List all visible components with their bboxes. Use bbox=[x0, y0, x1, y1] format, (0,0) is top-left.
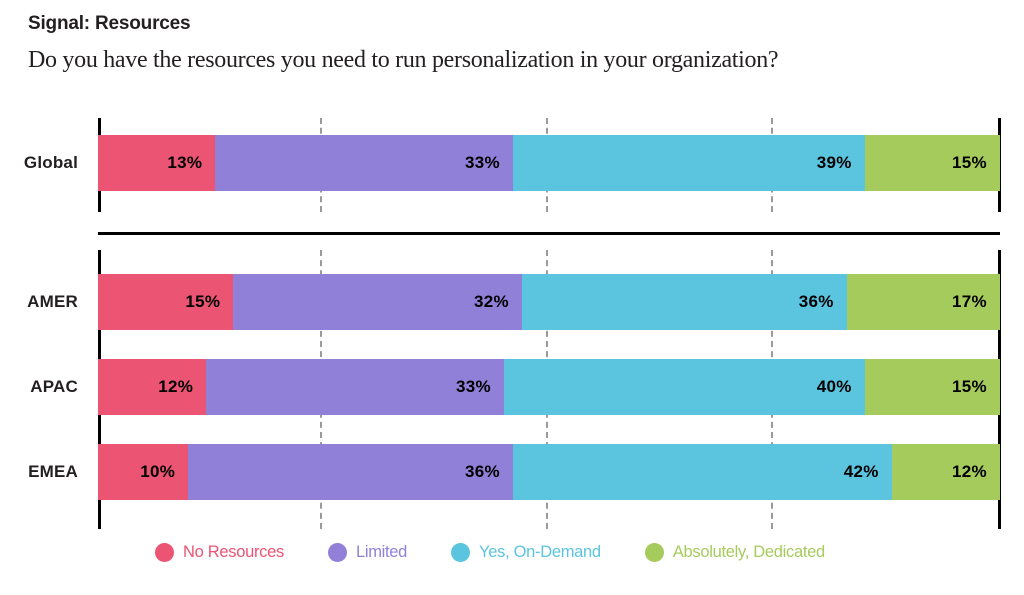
chart-legend: No Resources Limited Yes, On-Demand Abso… bbox=[155, 543, 869, 562]
bar-segment-value: 42% bbox=[844, 462, 892, 482]
bar-segment-no-resources[interactable]: 10% bbox=[98, 444, 188, 500]
legend-item-yes-on-demand[interactable]: Yes, On-Demand bbox=[451, 543, 601, 562]
bar-segment-value: 39% bbox=[817, 153, 865, 173]
stacked-bar-apac: 12% 33% 40% 15% bbox=[98, 359, 1000, 415]
bar-segment-value: 15% bbox=[952, 377, 1000, 397]
stacked-bar-global: 13% 33% 39% 15% bbox=[98, 135, 1000, 191]
bar-segment-value: 32% bbox=[474, 292, 522, 312]
group-separator bbox=[98, 232, 1000, 235]
bar-segment-value: 17% bbox=[952, 292, 1000, 312]
bar-segment-absolutely-dedicated[interactable]: 15% bbox=[865, 135, 1000, 191]
bar-segment-value: 15% bbox=[952, 153, 1000, 173]
legend-dot-icon bbox=[645, 543, 664, 562]
legend-item-label: Absolutely, Dedicated bbox=[673, 543, 825, 562]
row-label-amer: AMER bbox=[0, 274, 88, 330]
bar-segment-absolutely-dedicated[interactable]: 17% bbox=[847, 274, 1000, 330]
row-label-global: Global bbox=[0, 135, 88, 191]
legend-dot-icon bbox=[451, 543, 470, 562]
bar-segment-limited[interactable]: 33% bbox=[206, 359, 504, 415]
legend-item-no-resources[interactable]: No Resources bbox=[155, 543, 284, 562]
bar-row-apac: APAC 12% 33% 40% 15% bbox=[0, 359, 1024, 415]
legend-item-absolutely-dedicated[interactable]: Absolutely, Dedicated bbox=[645, 543, 825, 562]
bar-segment-value: 12% bbox=[158, 377, 206, 397]
bar-segment-yes-on-demand[interactable]: 39% bbox=[513, 135, 865, 191]
legend-item-label: No Resources bbox=[183, 543, 284, 562]
bar-segment-value: 33% bbox=[456, 377, 504, 397]
bar-segment-value: 36% bbox=[465, 462, 513, 482]
bar-segment-value: 13% bbox=[167, 153, 215, 173]
legend-item-label: Limited bbox=[356, 543, 407, 562]
legend-dot-icon bbox=[328, 543, 347, 562]
bar-segment-yes-on-demand[interactable]: 40% bbox=[504, 359, 865, 415]
row-label-apac: APAC bbox=[0, 359, 88, 415]
bar-segment-absolutely-dedicated[interactable]: 12% bbox=[892, 444, 1000, 500]
bar-segment-no-resources[interactable]: 15% bbox=[98, 274, 233, 330]
bar-row-global: Global 13% 33% 39% 15% bbox=[0, 135, 1024, 191]
legend-item-label: Yes, On-Demand bbox=[479, 543, 601, 562]
bar-segment-value: 10% bbox=[140, 462, 188, 482]
stacked-bar-amer: 15% 32% 36% 17% bbox=[98, 274, 1000, 330]
bar-segment-no-resources[interactable]: 12% bbox=[98, 359, 206, 415]
legend-dot-icon bbox=[155, 543, 174, 562]
bar-segment-limited[interactable]: 32% bbox=[233, 274, 522, 330]
bar-segment-value: 36% bbox=[799, 292, 847, 312]
row-label-emea: EMEA bbox=[0, 444, 88, 500]
bar-row-amer: AMER 15% 32% 36% 17% bbox=[0, 274, 1024, 330]
bar-segment-value: 40% bbox=[817, 377, 865, 397]
bar-segment-absolutely-dedicated[interactable]: 15% bbox=[865, 359, 1000, 415]
bar-segment-value: 33% bbox=[465, 153, 513, 173]
page-title: Signal: Resources bbox=[28, 14, 998, 35]
bar-segment-yes-on-demand[interactable]: 36% bbox=[522, 274, 847, 330]
bar-segment-value: 15% bbox=[185, 292, 233, 312]
legend-item-limited[interactable]: Limited bbox=[328, 543, 407, 562]
bar-segment-value: 12% bbox=[952, 462, 1000, 482]
bar-segment-limited[interactable]: 33% bbox=[215, 135, 513, 191]
stacked-bar-emea: 10% 36% 42% 12% bbox=[98, 444, 1000, 500]
bar-segment-no-resources[interactable]: 13% bbox=[98, 135, 215, 191]
bar-segment-yes-on-demand[interactable]: 42% bbox=[513, 444, 892, 500]
bar-segment-limited[interactable]: 36% bbox=[188, 444, 513, 500]
chart-header: Signal: Resources Do you have the resour… bbox=[28, 14, 998, 74]
bar-row-emea: EMEA 10% 36% 42% 12% bbox=[0, 444, 1024, 500]
chart-subtitle: Do you have the resources you need to ru… bbox=[28, 47, 998, 75]
